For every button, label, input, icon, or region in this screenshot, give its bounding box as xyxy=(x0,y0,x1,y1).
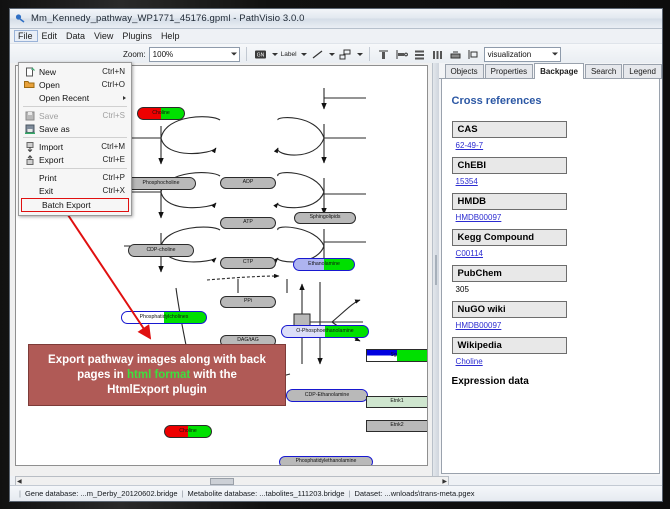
menu-item-save: Save Ctrl+S xyxy=(19,109,131,122)
pathway-node-sphingolipids[interactable]: Sphingolipids xyxy=(294,212,356,224)
new-file-icon xyxy=(23,66,36,77)
annotation-highlight: html format xyxy=(127,369,190,381)
xref-source-label: NuGO wiki xyxy=(452,301,567,318)
blank-icon xyxy=(26,200,39,211)
backpage-title: Cross references xyxy=(452,95,649,107)
pathway-node-etnk1[interactable]: Etnk1 xyxy=(366,396,428,408)
label-dropdown-icon[interactable] xyxy=(301,53,307,56)
label-tool-button[interactable]: Label xyxy=(281,51,297,58)
same-height-tool-button[interactable] xyxy=(466,47,481,62)
tab-backpage[interactable]: Backpage xyxy=(534,63,584,79)
menu-item-print[interactable]: Print Ctrl+P xyxy=(19,171,131,184)
pathway-node-choline-bottom[interactable]: Choline xyxy=(164,425,212,438)
visualization-value: visualization xyxy=(488,50,532,59)
blank-icon xyxy=(23,92,36,103)
chevron-down-icon xyxy=(552,53,558,56)
menu-separator xyxy=(23,168,127,169)
toolbar-separator xyxy=(246,47,247,61)
shape-dropdown-icon[interactable] xyxy=(357,53,363,56)
tab-search[interactable]: Search xyxy=(585,64,622,78)
file-menu-dropdown: New Ctrl+N Open Ctrl+O Open Recent xyxy=(18,62,132,216)
menu-edit[interactable]: Edit xyxy=(38,30,63,42)
xref-link[interactable]: C00114 xyxy=(456,249,483,258)
menu-item-label: Batch Export xyxy=(42,200,128,210)
pathway-node-ppi[interactable]: PPi xyxy=(220,296,276,308)
scroll-right-icon[interactable]: ▶ xyxy=(441,479,448,485)
gene-database-label: Gene database: xyxy=(25,489,78,498)
screenshot-root: Mm_Kennedy_pathway_WP1771_45176.gpml - P… xyxy=(0,0,670,509)
line-tool-button[interactable] xyxy=(310,47,325,62)
node-label: Sphingolipids xyxy=(310,215,341,220)
node-label: DAG/tAG xyxy=(237,338,259,343)
menu-item-label: Save xyxy=(39,111,103,121)
same-width-tool-button[interactable] xyxy=(448,47,463,62)
toolbar-separator xyxy=(369,47,370,61)
menu-item-new[interactable]: New Ctrl+N xyxy=(19,65,131,78)
window-titlebar: Mm_Kennedy_pathway_WP1771_45176.gpml - P… xyxy=(10,9,662,29)
gene-database-value: ...m_Derby_20120602.bridge xyxy=(80,489,177,498)
visualization-combobox[interactable]: visualization xyxy=(484,47,561,62)
xref-value[interactable]: 15354 xyxy=(456,177,649,186)
menu-item-label: Import xyxy=(39,142,101,152)
pathway-node-choline-top[interactable]: Choline xyxy=(137,107,185,120)
node-label: CDP-choline xyxy=(146,248,175,253)
submenu-arrow-icon xyxy=(123,96,126,100)
menubar: File Edit Data View Plugins Help xyxy=(10,29,662,44)
xref-value[interactable]: HMDB00097 xyxy=(456,321,649,330)
side-panel-tabs: Objects Properties Backpage Search Legen… xyxy=(439,63,662,79)
menu-item-label: Open Recent xyxy=(39,93,131,103)
node-label: Choline xyxy=(179,429,197,434)
xref-link[interactable]: Choline xyxy=(456,357,483,366)
dataset-value: ...wnloads\trans-meta.pgex xyxy=(384,489,474,498)
tab-legend[interactable]: Legend xyxy=(623,64,662,78)
xref-source-label: Wikipedia xyxy=(452,337,567,354)
menu-item-save-as[interactable]: Save as xyxy=(19,122,131,135)
node-label: ADP xyxy=(243,180,254,185)
menu-item-open[interactable]: Open Ctrl+O xyxy=(19,78,131,91)
annotation-banner: Export pathway images along with back pa… xyxy=(28,344,286,406)
menu-plugins[interactable]: Plugins xyxy=(118,30,157,42)
pathway-node-ethanolamine-top[interactable]: Ethanolamine xyxy=(293,258,355,271)
annotation-line-1: Export pathway images along with back xyxy=(48,353,266,368)
xref-row-chebi: ChEBI 15354 xyxy=(452,157,649,186)
annotation-line-2a: pages in xyxy=(77,369,127,381)
xref-link[interactable]: HMDB00097 xyxy=(456,213,502,222)
shape-tool-button[interactable] xyxy=(338,47,353,62)
menu-item-label: Open xyxy=(39,80,102,90)
node-label: Phosphatidylethanolamine xyxy=(296,459,357,464)
metabolite-database-label: Metabolite database: xyxy=(188,489,258,498)
annotation-line-3: HtmlExport plugin xyxy=(107,383,207,398)
xref-row-pubchem: PubChem 305 xyxy=(452,265,649,294)
pathway-node-o-phosphoethanolamine[interactable]: O-Phosphoethanolamine xyxy=(281,325,369,338)
annotation-line-2: pages in html format with the xyxy=(77,368,237,383)
xref-value: 305 xyxy=(456,285,649,294)
node-label: Phosphocholine xyxy=(143,181,180,186)
pathvisio-icon xyxy=(15,13,26,24)
pathway-node-ctp[interactable]: CTP xyxy=(220,257,276,269)
align-top-tool-button[interactable] xyxy=(376,47,391,62)
menu-separator xyxy=(23,106,127,107)
menu-data[interactable]: Data xyxy=(62,30,90,42)
svg-text:GN: GN xyxy=(256,52,264,58)
status-separator: | xyxy=(182,489,184,498)
datanode-tool-button[interactable]: GN xyxy=(253,47,268,62)
menu-item-accel: Ctrl+E xyxy=(103,155,131,164)
menu-item-accel: Ctrl+N xyxy=(102,67,131,76)
pathway-node-sgpl1[interactable]: Sgpl1 xyxy=(366,349,428,362)
import-icon xyxy=(23,141,36,152)
menu-item-accel: Ctrl+O xyxy=(102,80,131,89)
tab-properties[interactable]: Properties xyxy=(485,64,533,78)
node-label: O-Phosphoethanolamine xyxy=(296,329,353,334)
menu-item-import[interactable]: Import Ctrl+M xyxy=(19,140,131,153)
menu-item-batch-export[interactable]: Batch Export xyxy=(21,198,129,212)
annotation-line-2b: with the xyxy=(190,369,237,381)
line-dropdown-icon[interactable] xyxy=(329,53,335,56)
pathway-node-cdp-ethanolamine[interactable]: CDP-Ethanolamine xyxy=(286,389,368,402)
menu-item-exit[interactable]: Exit Ctrl+X xyxy=(19,184,131,197)
xref-link[interactable]: HMDB00097 xyxy=(456,321,502,330)
pathvisio-window: Mm_Kennedy_pathway_WP1771_45176.gpml - P… xyxy=(9,8,663,502)
xref-link[interactable]: 15354 xyxy=(456,177,478,186)
node-label: CTP xyxy=(243,260,253,265)
xref-source-label: CAS xyxy=(452,121,567,138)
pathway-node-adp[interactable]: ADP xyxy=(220,177,276,189)
xref-row-wikipedia: Wikipedia Choline xyxy=(452,337,649,366)
menu-item-label: Export xyxy=(39,155,103,165)
xref-row-kegg-compound: Kegg Compound C00114 xyxy=(452,229,649,258)
zoom-label: Zoom: xyxy=(123,50,146,59)
save-as-icon xyxy=(23,123,36,134)
xref-source-label: ChEBI xyxy=(452,157,567,174)
node-label: ATP xyxy=(243,220,253,225)
menu-view[interactable]: View xyxy=(90,30,118,42)
node-label: Etnk2 xyxy=(390,423,403,428)
menu-item-label: Exit xyxy=(39,186,103,196)
pathway-node-cdp-choline[interactable]: CDP-choline xyxy=(128,244,194,257)
blank-icon xyxy=(23,185,36,196)
xref-value[interactable]: C00114 xyxy=(456,249,649,258)
open-folder-icon xyxy=(23,79,36,90)
panel-splitter[interactable] xyxy=(432,63,439,476)
xref-value[interactable]: Choline xyxy=(456,357,649,366)
xref-row-hmdb: HMDB HMDB00097 xyxy=(452,193,649,222)
splitter-grip xyxy=(435,255,437,285)
datanode-dropdown-icon[interactable] xyxy=(272,53,278,56)
save-disk-icon xyxy=(23,110,36,121)
pathway-node-etnk2[interactable]: Etnk2 xyxy=(366,420,428,432)
metabolite-database-value: ...tabolites_111203.bridge xyxy=(259,489,344,498)
status-area: ◀ ▶ | Gene database: ...m_Derby_20120602… xyxy=(10,476,662,501)
menu-item-open-recent[interactable]: Open Recent xyxy=(19,91,131,104)
status-separator: | xyxy=(19,489,21,498)
xref-source-label: PubChem xyxy=(452,265,567,282)
menu-item-accel: Ctrl+X xyxy=(103,186,131,195)
tab-objects[interactable]: Objects xyxy=(445,64,484,78)
scroll-left-icon[interactable]: ◀ xyxy=(16,479,23,485)
menu-item-label: Save as xyxy=(39,124,125,134)
node-label: PPi xyxy=(244,299,252,304)
node-label: Etnk1 xyxy=(390,399,403,404)
node-label: Phosphatidylcholines xyxy=(140,315,189,320)
align-left-tool-button[interactable] xyxy=(394,47,409,62)
menu-item-label: Print xyxy=(39,173,103,183)
distribute-tool-button[interactable] xyxy=(430,47,445,62)
xref-row-cas: CAS 62-49-7 xyxy=(452,121,649,150)
xref-link[interactable]: 62-49-7 xyxy=(456,141,484,150)
pathway-node-atp[interactable]: ATP xyxy=(220,217,276,229)
zoom-combobox[interactable]: 100% xyxy=(149,47,240,62)
dataset-label: Dataset: xyxy=(354,489,382,498)
xref-row-nugo-wiki: NuGO wiki HMDB00097 xyxy=(452,301,649,330)
xref-source-label: Kegg Compound xyxy=(452,229,567,246)
expression-data-header: Expression data xyxy=(452,376,649,387)
backpage-content: Cross references CAS 62-49-7 ChEBI 15354… xyxy=(441,79,660,474)
export-icon xyxy=(23,154,36,165)
xref-value[interactable]: 62-49-7 xyxy=(456,141,649,150)
menu-item-accel: Ctrl+S xyxy=(103,111,131,120)
blank-icon xyxy=(23,172,36,183)
menu-item-export[interactable]: Export Ctrl+E xyxy=(19,153,131,166)
menu-item-accel: Ctrl+M xyxy=(101,142,131,151)
node-label: CDP-Ethanolamine xyxy=(305,393,349,398)
pathway-node-phosphatidylcholines[interactable]: Phosphatidylcholines xyxy=(121,311,207,324)
node-label: Ethanolamine xyxy=(308,262,340,267)
zoom-value: 100% xyxy=(153,50,173,59)
status-separator: | xyxy=(348,489,350,498)
statusbar: | Gene database: ...m_Derby_20120602.bri… xyxy=(10,485,662,501)
menu-separator xyxy=(23,137,127,138)
xref-value[interactable]: HMDB00097 xyxy=(456,213,649,222)
menu-item-label: New xyxy=(39,67,102,77)
side-panel: Objects Properties Backpage Search Legen… xyxy=(439,63,662,476)
chevron-down-icon xyxy=(231,53,237,56)
menu-item-accel: Ctrl+P xyxy=(103,173,131,182)
xref-source-label: HMDB xyxy=(452,193,567,210)
window-title: Mm_Kennedy_pathway_WP1771_45176.gpml - P… xyxy=(31,13,305,24)
node-label: Choline xyxy=(152,111,170,116)
menu-file[interactable]: File xyxy=(14,30,38,42)
pathway-node-phosphocholine[interactable]: Phosphocholine xyxy=(126,177,196,190)
pathway-node-phosphatidylethanolamine[interactable]: Phosphatidylethanolamine xyxy=(279,456,373,466)
menu-help[interactable]: Help xyxy=(157,30,185,42)
stack-vertical-tool-button[interactable] xyxy=(412,47,427,62)
scrollbar-thumb[interactable] xyxy=(210,478,234,485)
